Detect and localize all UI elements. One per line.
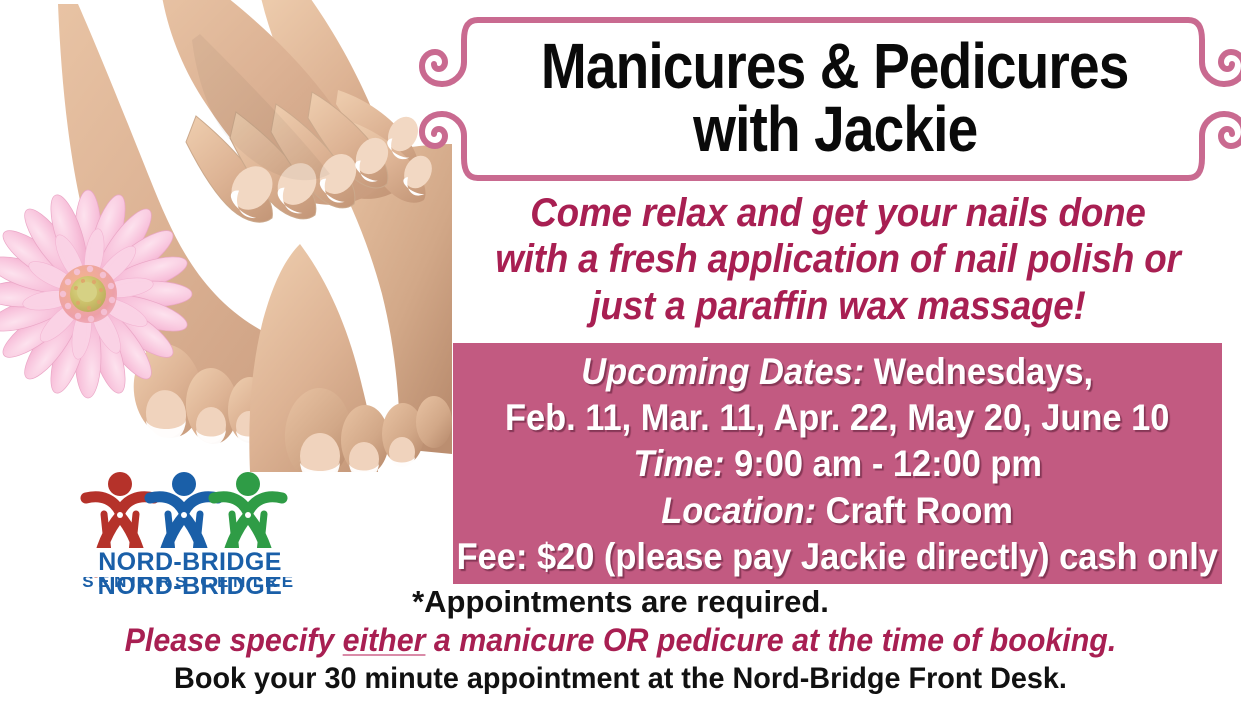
title-line-1: Manicures & Pedicures	[541, 35, 1129, 98]
footer-block: *Appointments are required. Please speci…	[0, 586, 1241, 697]
subtitle-line-1: Come relax and get your nails done	[483, 190, 1193, 236]
logo-name-line1-text: NORD-BRIDGE	[74, 548, 306, 577]
location-value: Craft Room	[816, 490, 1013, 531]
subtitle-line-2: with a fresh application of nail polish …	[483, 236, 1193, 282]
manicure-pedicure-photo	[0, 0, 452, 472]
details-location-row: Location: Craft Room	[662, 488, 1014, 534]
nord-bridge-logo: NORD-BRIDGE SENIORS CENTRE	[74, 468, 306, 602]
footer-line-2-underlined: either	[343, 622, 426, 658]
details-time-row: Time: 9:00 am - 12:00 pm	[633, 441, 1042, 487]
time-label: Time:	[633, 443, 724, 484]
details-dates-row: Upcoming Dates: Wednesdays,	[582, 349, 1094, 395]
location-label: Location:	[662, 490, 817, 531]
dates-label: Upcoming Dates:	[582, 351, 865, 392]
footer-line-3: Book your 30 minute appointment at the N…	[25, 661, 1216, 697]
details-dates-list: Feb. 11, Mar. 11, Apr. 22, May 20, June …	[505, 395, 1169, 441]
subtitle-block: Come relax and get your nails done with …	[452, 190, 1224, 329]
page-title: Manicures & Pedicures with Jackie	[470, 22, 1200, 174]
event-details-box: Upcoming Dates: Wednesdays, Feb. 11, Mar…	[453, 343, 1222, 584]
flyer-canvas: NORD-BRIDGE SENIORS CENTRE NORD-BRIDGE	[0, 0, 1241, 709]
dates-value: Wednesdays,	[865, 351, 1094, 392]
time-value: 9:00 am - 12:00 pm	[724, 443, 1041, 484]
subtitle-line-3: just a paraffin wax massage!	[483, 283, 1193, 329]
details-fee-row: Fee: $20 (please pay Jackie directly) ca…	[457, 534, 1218, 580]
footer-line-1: *Appointments are required.	[0, 586, 1241, 619]
title-line-2: with Jackie	[693, 98, 977, 161]
footer-line-2-post: a manicure OR pedicure at the time of bo…	[425, 622, 1116, 658]
footer-line-2-pre: Please specify	[125, 622, 343, 658]
footer-line-2: Please specify either a manicure OR pedi…	[31, 619, 1210, 661]
